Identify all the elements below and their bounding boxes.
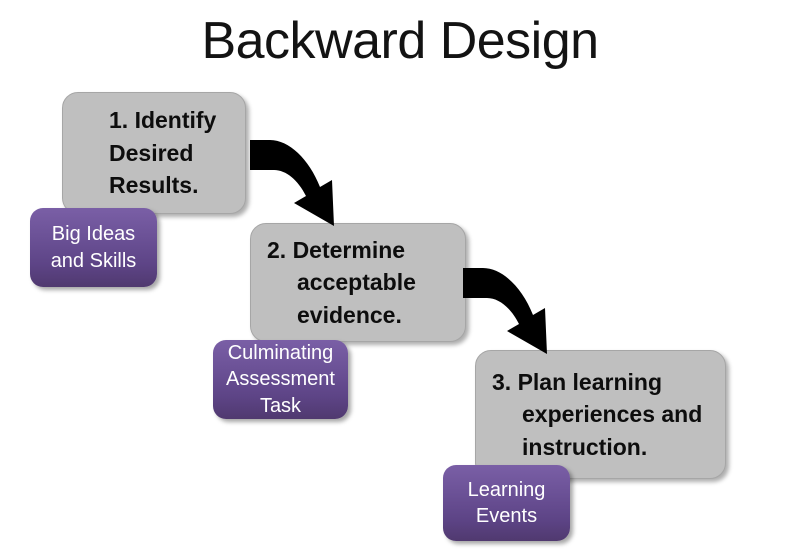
tag-box-culminating-assessment-label: Culminating Assessment Task (218, 340, 343, 419)
curved-arrow-icon-2 (461, 258, 556, 358)
step-box-3-label: 3. Plan learning experiences and instruc… (492, 366, 713, 464)
curved-arrow-icon-1 (248, 130, 343, 230)
tag-box-learning-events-label: Learning Events (460, 477, 554, 530)
slide-canvas: Backward Design 1. Identify Desired Resu… (0, 0, 800, 554)
tag-box-big-ideas-label: Big Ideas and Skills (43, 221, 145, 274)
tag-box-big-ideas[interactable]: Big Ideas and Skills (30, 208, 157, 287)
step-box-2-label: 2. Determine acceptable evidence. (267, 234, 453, 332)
page-title: Backward Design (0, 12, 800, 72)
step-box-3[interactable]: 3. Plan learning experiences and instruc… (475, 350, 726, 479)
step-box-1-label: 1. Identify Desired Results. (79, 104, 233, 202)
tag-box-learning-events[interactable]: Learning Events (443, 465, 570, 541)
tag-box-culminating-assessment[interactable]: Culminating Assessment Task (213, 340, 348, 419)
step-box-1[interactable]: 1. Identify Desired Results. (62, 92, 246, 214)
step-box-2[interactable]: 2. Determine acceptable evidence. (250, 223, 466, 342)
